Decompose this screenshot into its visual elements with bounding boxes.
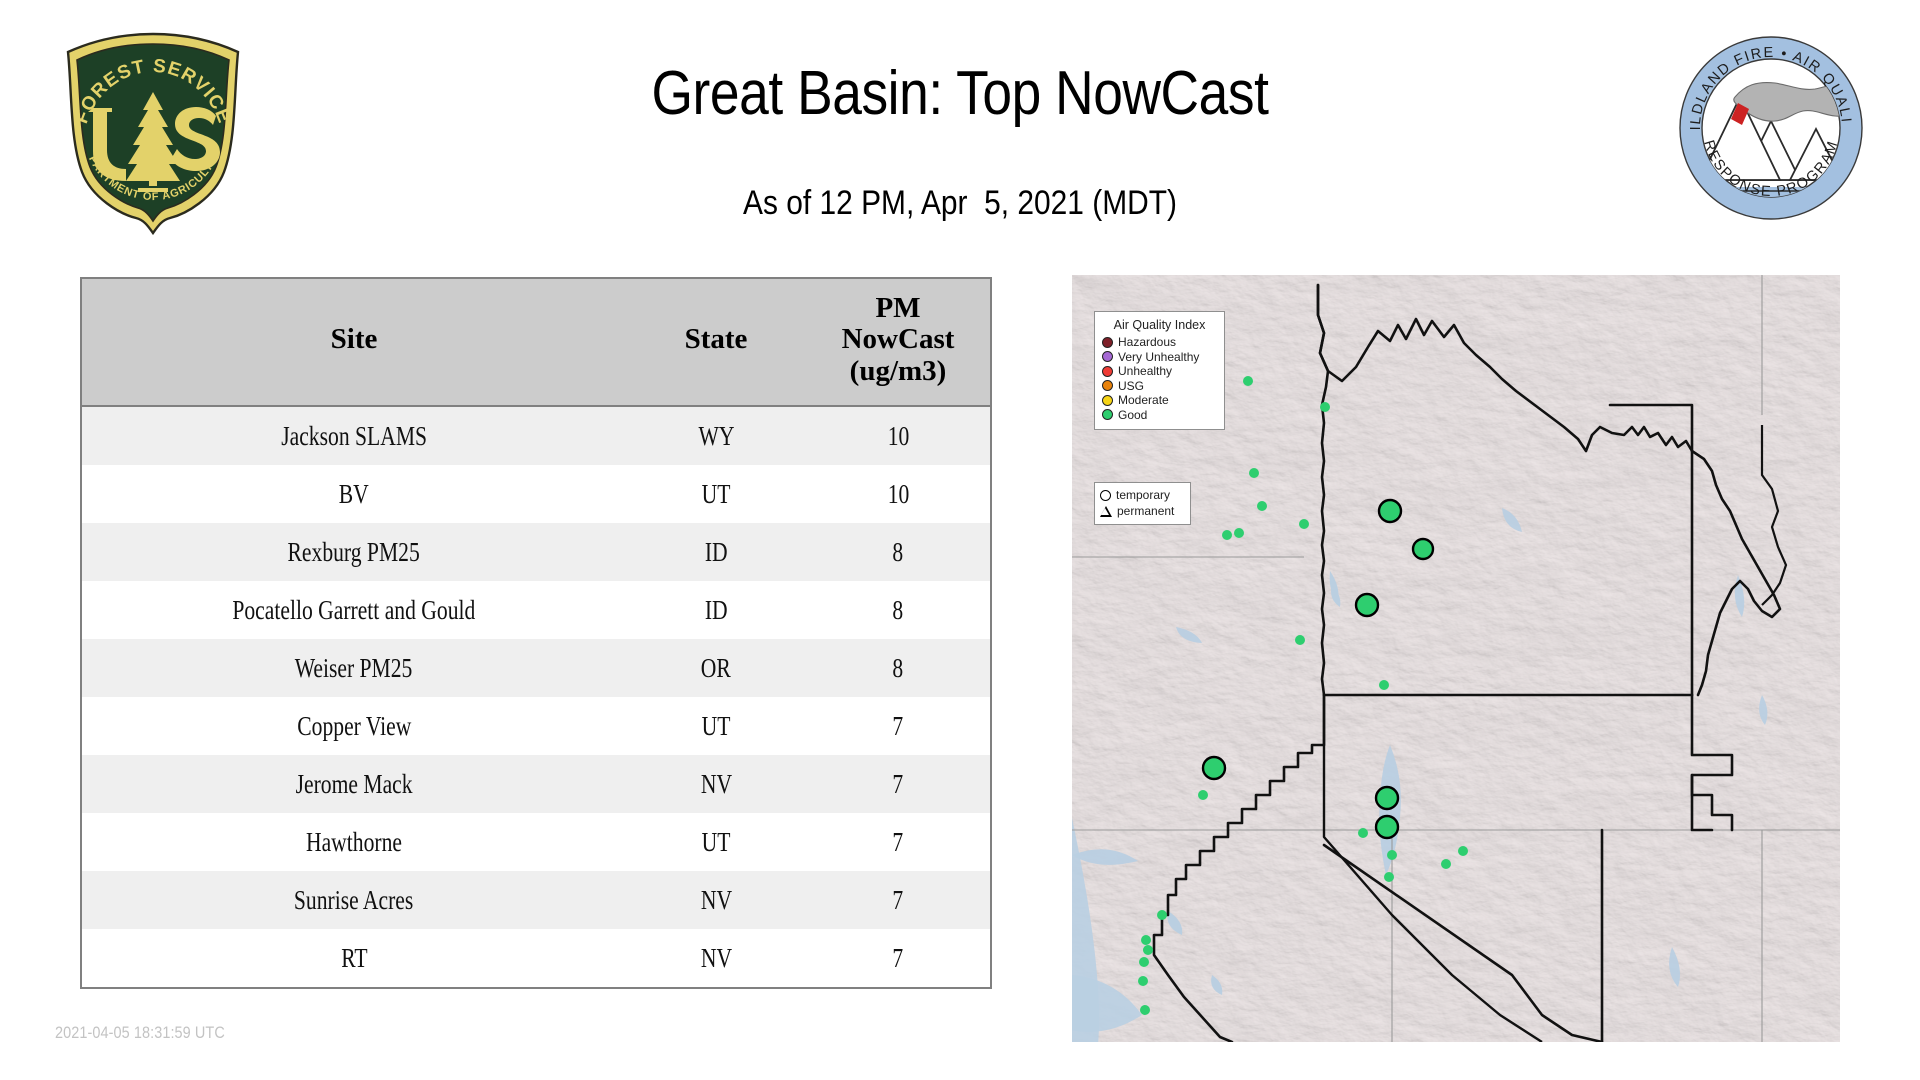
cell-state: UT [626, 465, 806, 523]
cell-pm: 10 [806, 465, 991, 523]
nowcast-table-body: Jackson SLAMSWY10 BVUT10 Rexburg PM25ID8… [81, 406, 991, 988]
monitor-marker[interactable] [1379, 500, 1401, 522]
column-header-pm-line1: PM [875, 292, 920, 324]
legend-label: Very Unhealthy [1118, 350, 1199, 365]
legend-label: permanent [1117, 503, 1174, 519]
page-title: Great Basin: Top NowCast [358, 58, 1562, 129]
legend-item-unhealthy: Unhealthy [1102, 364, 1217, 379]
monitor-marker[interactable] [1379, 680, 1389, 690]
cell-site: BV [81, 465, 626, 523]
aqi-legend: Air Quality Index Hazardous Very Unhealt… [1094, 311, 1225, 430]
unhealthy-swatch-icon [1102, 366, 1113, 377]
cell-site: Sunrise Acres [81, 871, 626, 929]
monitor-marker[interactable] [1157, 910, 1167, 920]
monitor-marker[interactable] [1358, 828, 1368, 838]
monitor-marker[interactable] [1139, 957, 1149, 967]
cell-site: Jerome Mack [81, 755, 626, 813]
cell-site: Copper View [81, 697, 626, 755]
column-header-pm-line2: NowCast [842, 323, 955, 355]
monitor-marker[interactable] [1299, 519, 1309, 529]
table-row: Pocatello Garrett and GouldID8 [81, 581, 991, 639]
cell-site: Jackson SLAMS [81, 406, 626, 465]
legend-label: Moderate [1118, 393, 1169, 408]
cell-site: Weiser PM25 [81, 639, 626, 697]
monitor-marker[interactable] [1441, 859, 1451, 869]
table-row: Rexburg PM25ID8 [81, 523, 991, 581]
monitor-marker[interactable] [1138, 976, 1148, 986]
monitor-marker[interactable] [1198, 790, 1208, 800]
cell-pm: 8 [806, 639, 991, 697]
cell-pm: 7 [806, 755, 991, 813]
nowcast-table: Site State PM NowCast (ug/m3) Jackson SL… [80, 277, 992, 989]
wfaqrp-logo: WILDLAND FIRE • AIR QUALITY RESPONSE PRO… [1678, 35, 1864, 221]
table-row: Copper ViewUT7 [81, 697, 991, 755]
table-row: RTNV7 [81, 929, 991, 988]
column-header-site: Site [81, 278, 626, 406]
temporary-monitor-icon [1100, 490, 1111, 501]
monitor-marker[interactable] [1376, 816, 1398, 838]
column-header-state-label: State [685, 323, 748, 355]
usfs-shield-logo: FOREST SERVICE DEPARTMENT OF AGRICULTURE [58, 30, 248, 235]
cell-state: ID [626, 581, 806, 639]
usg-swatch-icon [1102, 380, 1113, 391]
aqi-legend-title: Air Quality Index [1102, 318, 1217, 332]
cell-pm: 7 [806, 929, 991, 988]
cell-pm: 10 [806, 406, 991, 465]
table-row: HawthorneUT7 [81, 813, 991, 871]
monitor-marker[interactable] [1143, 945, 1153, 955]
column-header-state: State [626, 278, 806, 406]
column-header-pm-nowcast: PM NowCast (ug/m3) [806, 278, 991, 406]
very-unhealthy-swatch-icon [1102, 351, 1113, 362]
monitor-marker[interactable] [1458, 846, 1468, 856]
column-header-pm-line3: (ug/m3) [850, 355, 947, 387]
cell-site: Rexburg PM25 [81, 523, 626, 581]
cell-pm: 7 [806, 697, 991, 755]
permanent-monitor-icon [1100, 506, 1112, 517]
table-row: Jackson SLAMSWY10 [81, 406, 991, 465]
monitor-marker[interactable] [1320, 402, 1330, 412]
cell-pm: 7 [806, 871, 991, 929]
monitor-marker[interactable] [1243, 376, 1253, 386]
legend-item-permanent: permanent [1100, 503, 1185, 519]
cell-state: ID [626, 523, 806, 581]
nowcast-table-container: Site State PM NowCast (ug/m3) Jackson SL… [80, 277, 990, 989]
cell-site: Pocatello Garrett and Gould [81, 581, 626, 639]
legend-item-moderate: Moderate [1102, 393, 1217, 408]
cell-state: UT [626, 697, 806, 755]
monitor-marker[interactable] [1140, 1005, 1150, 1015]
cell-state: NV [626, 929, 806, 988]
monitor-marker[interactable] [1384, 872, 1394, 882]
cell-state: OR [626, 639, 806, 697]
legend-item-hazardous: Hazardous [1102, 335, 1217, 350]
monitor-marker[interactable] [1387, 850, 1397, 860]
monitor-marker[interactable] [1222, 530, 1232, 540]
table-row: BVUT10 [81, 465, 991, 523]
monitor-type-legend: temporary permanent [1094, 482, 1191, 525]
monitor-marker[interactable] [1376, 787, 1398, 809]
cell-pm: 8 [806, 581, 991, 639]
page-subtitle: As of 12 PM, Apr 5, 2021 (MDT) [344, 184, 1576, 223]
legend-label: Unhealthy [1118, 364, 1172, 379]
table-header-row: Site State PM NowCast (ug/m3) [81, 278, 991, 406]
legend-item-good: Good [1102, 408, 1217, 423]
table-row: Weiser PM25OR8 [81, 639, 991, 697]
cell-state: UT [626, 813, 806, 871]
cell-site: RT [81, 929, 626, 988]
legend-label: Hazardous [1118, 335, 1176, 350]
monitor-marker[interactable] [1141, 935, 1151, 945]
monitor-marker[interactable] [1413, 539, 1433, 559]
legend-label: temporary [1116, 487, 1170, 503]
legend-label: USG [1118, 379, 1144, 394]
cell-state: WY [626, 406, 806, 465]
legend-item-very-unhealthy: Very Unhealthy [1102, 350, 1217, 365]
monitor-marker[interactable] [1249, 468, 1259, 478]
cell-state: NV [626, 755, 806, 813]
footer-timestamp: 2021-04-05 18:31:59 UTC [55, 1023, 225, 1043]
monitor-marker[interactable] [1356, 594, 1378, 616]
good-swatch-icon [1102, 409, 1113, 420]
legend-item-usg: USG [1102, 379, 1217, 394]
legend-label: Good [1118, 408, 1147, 423]
moderate-swatch-icon [1102, 395, 1113, 406]
cell-pm: 8 [806, 523, 991, 581]
table-row: Sunrise AcresNV7 [81, 871, 991, 929]
hazardous-swatch-icon [1102, 337, 1113, 348]
monitor-marker[interactable] [1234, 528, 1244, 538]
cell-pm: 7 [806, 813, 991, 871]
cell-state: NV [626, 871, 806, 929]
monitor-marker[interactable] [1257, 501, 1267, 511]
air-quality-map[interactable]: Air Quality Index Hazardous Very Unhealt… [1072, 275, 1840, 1042]
monitor-marker[interactable] [1295, 635, 1305, 645]
legend-item-temporary: temporary [1100, 487, 1185, 503]
cell-site: Hawthorne [81, 813, 626, 871]
table-row: Jerome MackNV7 [81, 755, 991, 813]
monitor-marker[interactable] [1203, 757, 1225, 779]
column-header-site-label: Site [331, 323, 378, 355]
